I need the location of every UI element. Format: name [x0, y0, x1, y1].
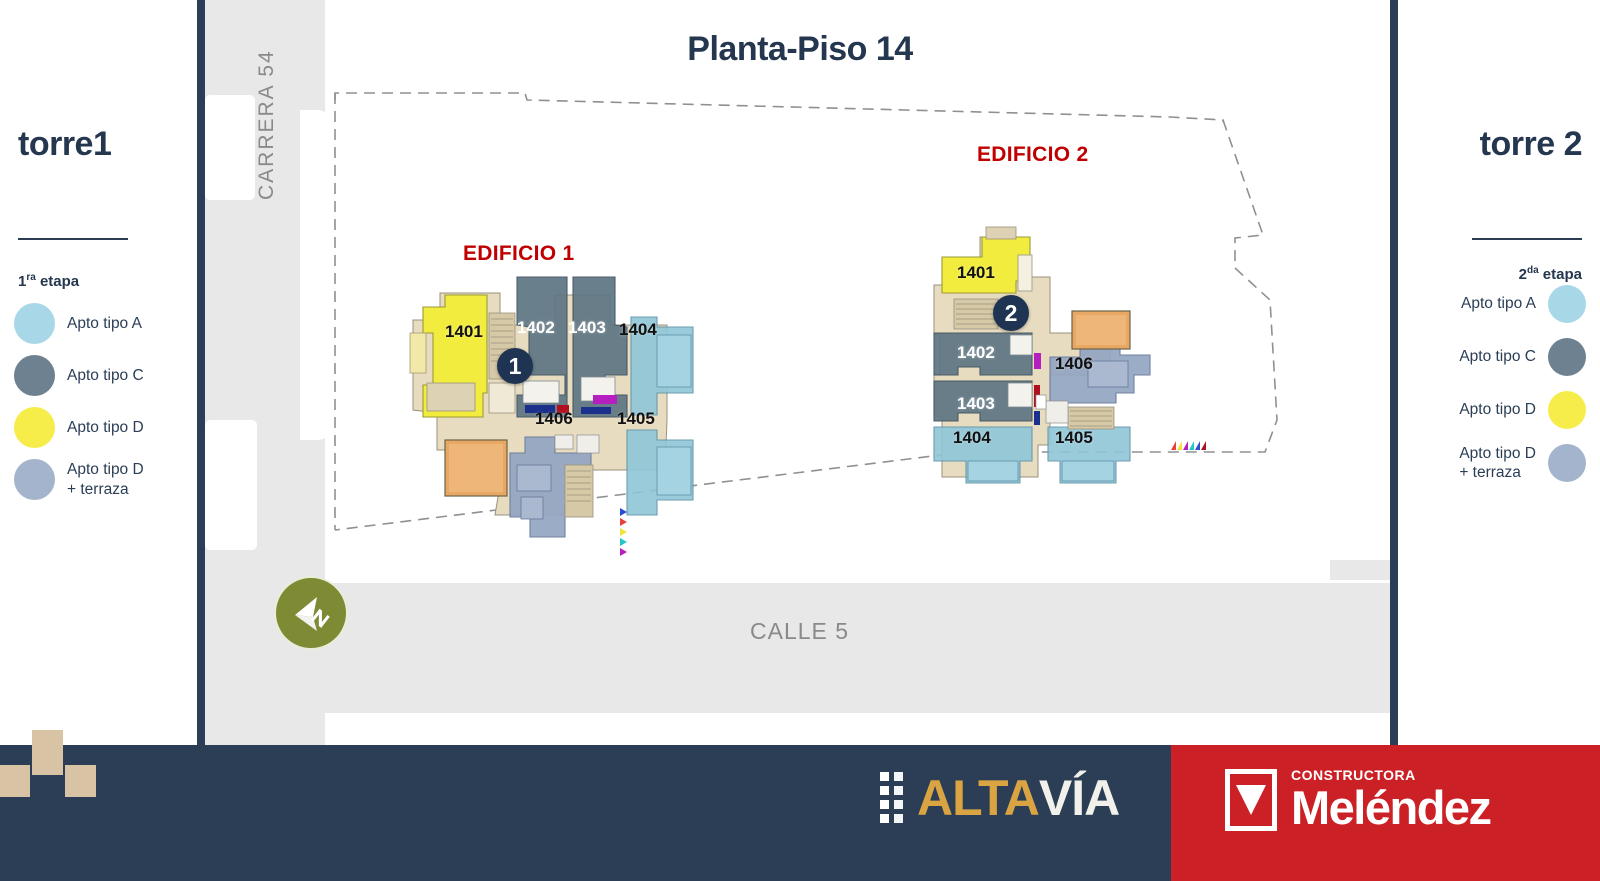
swatch-apto-d — [14, 407, 55, 448]
legend-item-apto-d-terraza[interactable]: Apto tipo D + terraza — [14, 459, 144, 500]
floor-plan-board: CARRERA 54 CALLE 5 — [0, 0, 1600, 881]
building-2-label: EDIFICIO 2 — [977, 143, 1089, 167]
deco-block-tall — [32, 730, 63, 775]
tower-1-etapa: 1ra etapa — [18, 272, 79, 290]
deco-block-left — [0, 765, 30, 797]
legend-label-apto-d: Apto tipo D — [1459, 400, 1536, 419]
legend-item-apto-c[interactable]: Apto tipo C — [14, 355, 144, 396]
altavia-logo: ALTA VÍA — [880, 772, 1119, 823]
legend-label-apto-a: Apto tipo A — [67, 314, 142, 333]
tower-2-title: torre 2 — [1480, 125, 1582, 164]
etapa-number: 2 — [1519, 266, 1527, 283]
melendez-constructora-text: CONSTRUCTORA — [1291, 768, 1491, 782]
swatch-apto-d-terraza — [1548, 444, 1586, 482]
melendez-logo: CONSTRUCTORA Meléndez — [1225, 768, 1491, 831]
legend-item-apto-c[interactable]: Apto tipo C — [1459, 338, 1586, 376]
legend-item-apto-a[interactable]: Apto tipo A — [14, 303, 144, 344]
etapa-word: etapa — [36, 273, 79, 290]
building-1-marker[interactable]: 1 — [497, 348, 533, 384]
tower-1-rule — [18, 238, 128, 240]
etapa-ordinal: ra — [26, 272, 35, 283]
unit-number-1403-b2[interactable]: 1403 — [957, 394, 995, 414]
unit-number-1402-b1[interactable]: 1402 — [517, 318, 555, 338]
divider-right — [1390, 0, 1398, 745]
altavia-dots-icon — [880, 772, 903, 823]
legend-label-apto-d-terraza: Apto tipo D + terraza — [67, 460, 144, 499]
tower-1-panel: torre1 1ra etapa Apto tipo A Apto tipo C… — [0, 0, 197, 745]
tower-2-legend: Apto tipo A Apto tipo C Apto tipo D Apto… — [1459, 285, 1586, 483]
altavia-via-text: VÍA — [1039, 773, 1119, 823]
unit-number-1402-b2[interactable]: 1402 — [957, 343, 995, 363]
unit-number-1404-b2[interactable]: 1404 — [953, 428, 991, 448]
etapa-word: etapa — [1539, 266, 1582, 283]
tower-2-panel: torre 2 2da etapa Apto tipo A Apto tipo … — [1398, 0, 1600, 745]
swatch-apto-c — [14, 355, 55, 396]
legend-item-apto-d[interactable]: Apto tipo D — [14, 407, 144, 448]
altavia-alta-text: ALTA — [917, 773, 1039, 823]
etapa-ordinal: da — [1527, 265, 1539, 276]
tower-2-etapa: 2da etapa — [1519, 265, 1582, 283]
tower-1-legend: Apto tipo A Apto tipo C Apto tipo D Apto… — [14, 303, 144, 500]
property-boundary — [205, 0, 1390, 745]
building-2-plan[interactable] — [920, 215, 1180, 525]
divider-left — [197, 0, 205, 745]
legend-label-apto-a: Apto tipo A — [1461, 294, 1536, 313]
melendez-name-text: Meléndez — [1291, 784, 1491, 831]
check-triangle-icon — [1236, 785, 1266, 815]
unit-number-1404-b1[interactable]: 1404 — [619, 320, 657, 340]
legend-label-apto-c: Apto tipo C — [1459, 347, 1536, 366]
legend-item-apto-d-terraza[interactable]: Apto tipo D + terraza — [1459, 444, 1586, 483]
building-2-marker[interactable]: 2 — [993, 295, 1029, 331]
unit-number-1405-b1[interactable]: 1405 — [617, 409, 655, 429]
swatch-apto-a — [14, 303, 55, 344]
unit-number-1403-b1[interactable]: 1403 — [568, 318, 606, 338]
unit-number-1401-b1[interactable]: 1401 — [445, 322, 483, 342]
tower-1-title: torre1 — [18, 125, 111, 164]
unit-number-1405-b2[interactable]: 1405 — [1055, 428, 1093, 448]
legend-label-apto-d: Apto tipo D — [67, 418, 144, 437]
legend-item-apto-a[interactable]: Apto tipo A — [1461, 285, 1586, 323]
checkbox-icon — [1225, 769, 1277, 831]
swatch-apto-d-terraza — [14, 459, 55, 500]
cad-marker-triangles-right — [1165, 441, 1206, 450]
swatch-apto-d — [1548, 391, 1586, 429]
swatch-apto-c — [1548, 338, 1586, 376]
compass-rose-icon — [276, 578, 346, 648]
legend-item-apto-d[interactable]: Apto tipo D — [1459, 391, 1586, 429]
deco-block-right — [65, 765, 96, 797]
tower-2-rule — [1472, 238, 1582, 240]
page-title: Planta-Piso 14 — [0, 30, 1600, 69]
unit-number-1401-b2[interactable]: 1401 — [957, 263, 995, 283]
unit-number-1406-b2[interactable]: 1406 — [1055, 354, 1093, 374]
site-plan: EDIFICIO 1 1401 1402 1403 1404 1405 1406… — [205, 0, 1390, 745]
swatch-apto-a — [1548, 285, 1586, 323]
building-1-label: EDIFICIO 1 — [463, 242, 575, 266]
cad-marker-triangles-bottom — [620, 508, 627, 556]
legend-label-apto-d-terraza: Apto tipo D + terraza — [1459, 444, 1536, 483]
legend-label-apto-c: Apto tipo C — [67, 366, 144, 385]
unit-number-1406-b1[interactable]: 1406 — [535, 409, 573, 429]
